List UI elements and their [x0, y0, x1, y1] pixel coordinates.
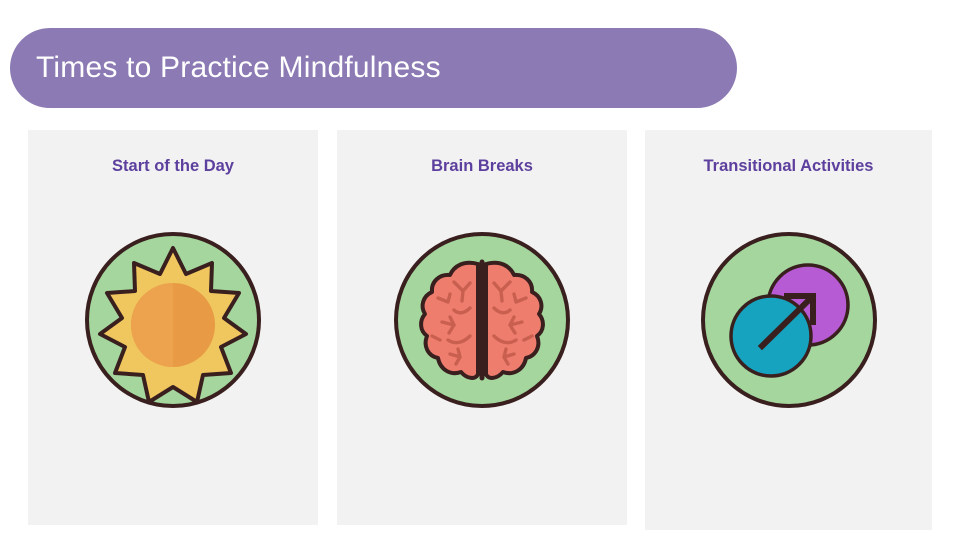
icon-container-sun: [28, 230, 318, 410]
card-heading-brain-breaks: Brain Breaks: [337, 157, 627, 176]
icon-container-brain: [337, 230, 627, 410]
icon-container-transition: [645, 230, 932, 410]
card-heading-start-of-the-day: Start of the Day: [28, 157, 318, 176]
title-banner: Times to Practice Mindfulness: [10, 28, 737, 108]
card-heading-transitional-activities: Transitional Activities: [645, 157, 932, 176]
card-start-of-the-day[interactable]: Start of the Day: [28, 130, 318, 525]
card-brain-breaks[interactable]: Brain Breaks: [337, 130, 627, 525]
page-title: Times to Practice Mindfulness: [10, 51, 441, 85]
transition-arrow-icon: [699, 230, 879, 410]
brain-icon: [392, 230, 572, 410]
sun-icon: [83, 230, 263, 410]
card-transitional-activities[interactable]: Transitional Activities: [645, 130, 932, 530]
